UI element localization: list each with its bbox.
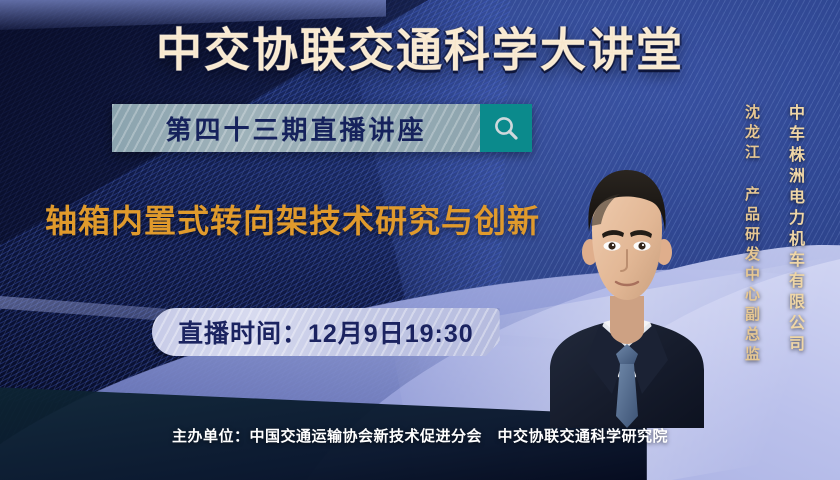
live-time-badge: 直播时间：12月9日19:30 [152,308,500,356]
live-lecture-poster: 中交协联交通科学大讲堂 第四十三期直播讲座 轴箱内置式转向架技术研究与创新 直播… [0,0,840,480]
speaker-portrait [542,148,712,428]
episode-banner: 第四十三期直播讲座 [112,104,532,152]
search-icon[interactable] [480,104,532,152]
page-title: 中交协联交通科学大讲堂 [0,14,840,80]
topic-title: 轴箱内置式转向架技术研究与创新 [0,196,585,242]
organizer-footer: 主办单位：中国交通运输协会新技术促进分会 中交协联交通科学研究院 [0,425,840,446]
live-time-label: 直播时间：12月9日19:30 [178,314,474,350]
speaker-company: 中车株洲电力机车有限公司 [782,104,806,356]
speaker-name-role: 沈龙江 产品研发中心副总监 [741,104,762,366]
episode-banner-fill: 第四十三期直播讲座 [112,104,480,152]
episode-label: 第四十三期直播讲座 [165,110,426,147]
